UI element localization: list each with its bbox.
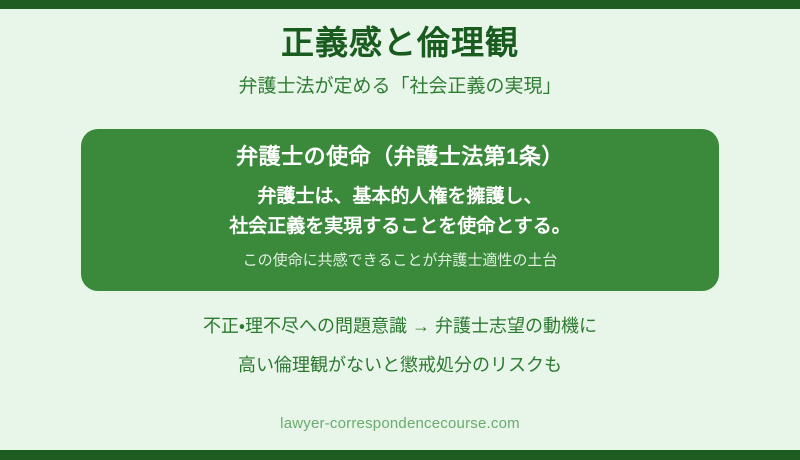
page-title: 正義感と倫理観	[0, 22, 800, 63]
page-subtitle: 弁護士法が定める「社会正義の実現」	[0, 74, 800, 101]
mission-card-line-1: 弁護士は、基本的人権を擁護し、	[257, 182, 542, 213]
slide-root: 正義感と倫理観 弁護士法が定める「社会正義の実現」 弁護士の使命（弁護士法第1条…	[0, 0, 800, 460]
point-item-ethics-risk: 高い倫理観がないと懲戒処分のリスクも	[238, 353, 562, 377]
footer-url: lawyer-correspondencecourse.com	[0, 415, 800, 432]
mission-card-line-2: 社会正義を実現することを使命とする。	[229, 212, 570, 243]
bottom-accent-bar	[0, 450, 800, 460]
top-accent-bar	[0, 0, 800, 9]
mission-card-title: 弁護士の使命（弁護士法第1条）	[236, 143, 564, 172]
point-list: 不正・理不尽への問題意識 → 弁護士志望の動機に 高い倫理観がないと懲戒処分のリ…	[0, 314, 800, 378]
mission-card-note: この使命に共感できることが弁護士適性の土台	[243, 250, 558, 271]
point-item-motivation: 不正・理不尽への問題意識 → 弁護士志望の動機に	[203, 314, 597, 338]
mission-card: 弁護士の使命（弁護士法第1条） 弁護士は、基本的人権を擁護し、 社会正義を実現す…	[81, 129, 719, 291]
